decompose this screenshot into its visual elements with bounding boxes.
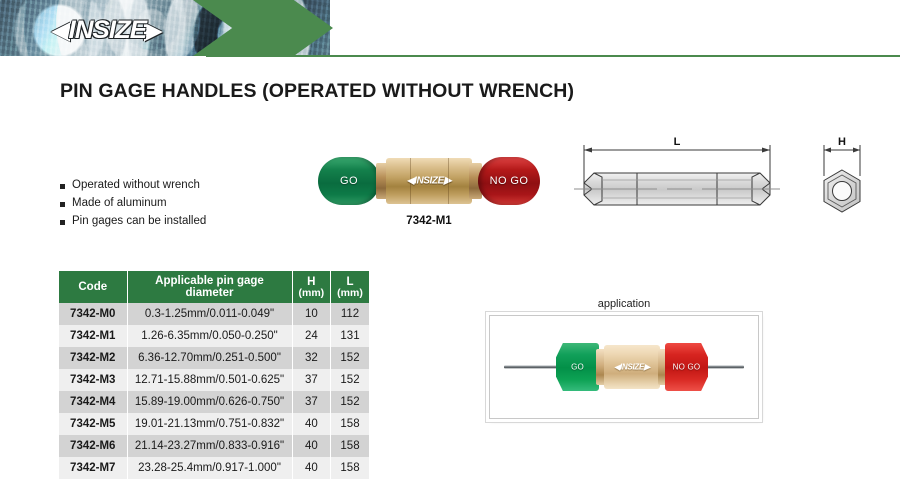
app-brass-body: ◀INSIZE▶ bbox=[604, 345, 660, 389]
cell-l: 152 bbox=[331, 347, 369, 369]
insize-logo: ◀ INSIZE ▶ bbox=[27, 17, 187, 43]
cell-code: 7342-M5 bbox=[59, 413, 127, 435]
feature-label: Made of aluminum bbox=[72, 196, 167, 211]
cell-h: 10 bbox=[292, 303, 331, 325]
logo-wordmark: INSIZE bbox=[68, 16, 146, 45]
logo-left-arrow-icon: ◀ bbox=[52, 19, 70, 42]
cell-h: 24 bbox=[292, 325, 331, 347]
nogo-label: NO GO bbox=[478, 175, 540, 187]
table-row[interactable]: 7342-M6 21.14-23.27mm/0.833-0.916" 40 15… bbox=[59, 435, 369, 457]
table-row[interactable]: 7342-M5 19.01-21.13mm/0.751-0.832" 40 15… bbox=[59, 413, 369, 435]
cell-h: 37 bbox=[292, 369, 331, 391]
cell-diameter: 15.89-19.00mm/0.626-0.750" bbox=[127, 391, 292, 413]
cell-diameter: 1.26-6.35mm/0.050-0.250" bbox=[127, 325, 292, 347]
cell-l: 152 bbox=[331, 369, 369, 391]
square-bullet-icon bbox=[60, 202, 65, 207]
height-dimension-label: H bbox=[838, 136, 846, 148]
brass-body: ◀INSIZE▶ bbox=[386, 158, 472, 204]
cell-l: 158 bbox=[331, 457, 369, 479]
column-header-h: H (mm) bbox=[292, 271, 331, 303]
cell-h: 40 bbox=[292, 457, 331, 479]
column-header-h-unit: (mm) bbox=[299, 288, 325, 299]
cell-code: 7342-M3 bbox=[59, 369, 127, 391]
technical-drawing: L bbox=[572, 128, 892, 224]
table-row[interactable]: 7342-M1 1.26-6.35mm/0.050-0.250" 24 131 bbox=[59, 325, 369, 347]
column-header-l-unit: (mm) bbox=[337, 288, 363, 299]
cell-code: 7342-M4 bbox=[59, 391, 127, 413]
cell-code: 7342-M6 bbox=[59, 435, 127, 457]
table-row[interactable]: 7342-M0 0.3-1.25mm/0.011-0.049" 10 112 bbox=[59, 303, 369, 325]
go-label: GO bbox=[318, 175, 380, 187]
body-brand-label: ◀INSIZE▶ bbox=[407, 176, 451, 187]
square-bullet-icon bbox=[60, 220, 65, 225]
square-bullet-icon bbox=[60, 184, 65, 189]
cell-h: 40 bbox=[292, 435, 331, 457]
app-nogo-end-cap: NO GO bbox=[665, 343, 708, 391]
product-code-caption: 7342-M1 bbox=[318, 215, 540, 227]
pin-gage-handle-illustration: GO ◀INSIZE▶ NO GO bbox=[318, 152, 540, 210]
column-header-l-symbol: L bbox=[346, 276, 353, 288]
page-title: PIN GAGE HANDLES (OPERATED WITHOUT WRENC… bbox=[60, 80, 574, 103]
cell-l: 158 bbox=[331, 413, 369, 435]
cell-diameter: 0.3-1.25mm/0.011-0.049" bbox=[127, 303, 292, 325]
page-header: ◀ INSIZE ▶ bbox=[0, 0, 900, 62]
column-header-l: L (mm) bbox=[331, 271, 369, 303]
product-photo: GO ◀INSIZE▶ NO GO bbox=[318, 152, 540, 210]
logo-right-arrow-icon: ▶ bbox=[144, 19, 162, 42]
cell-code: 7342-M1 bbox=[59, 325, 127, 347]
column-header-code: Code bbox=[59, 271, 127, 303]
table-row[interactable]: 7342-M4 15.89-19.00mm/0.626-0.750" 37 15… bbox=[59, 391, 369, 413]
cell-diameter: 12.71-15.88mm/0.501-0.625" bbox=[127, 369, 292, 391]
catalog-page: ◀ INSIZE ▶ PIN GAGE HANDLES (OPERATED WI… bbox=[0, 0, 900, 488]
cell-l: 112 bbox=[331, 303, 369, 325]
table-body: 7342-M0 0.3-1.25mm/0.011-0.049" 10 112 7… bbox=[59, 303, 369, 479]
dimension-drawing-svg: L bbox=[572, 128, 892, 224]
cell-l: 131 bbox=[331, 325, 369, 347]
table-header-row: Code Applicable pin gage diameter H (mm)… bbox=[59, 271, 369, 303]
feature-label: Pin gages can be installed bbox=[72, 214, 206, 229]
cell-code: 7342-M2 bbox=[59, 347, 127, 369]
header-divider-rule bbox=[206, 55, 900, 57]
app-go-label: GO bbox=[556, 363, 599, 372]
cell-diameter: 6.36-12.70mm/0.251-0.500" bbox=[127, 347, 292, 369]
handle-end-view-hexagon bbox=[824, 170, 860, 212]
column-header-h-symbol: H bbox=[307, 276, 315, 288]
cell-diameter: 21.14-23.27mm/0.833-0.916" bbox=[127, 435, 292, 457]
cell-diameter: 19.01-21.13mm/0.751-0.832" bbox=[127, 413, 292, 435]
cell-l: 158 bbox=[331, 435, 369, 457]
application-caption: application bbox=[489, 298, 759, 310]
cell-l: 152 bbox=[331, 391, 369, 413]
list-item: Pin gages can be installed bbox=[60, 214, 206, 229]
application-handle-illustration: GO ◀INSIZE▶ NO GO bbox=[556, 335, 708, 399]
app-nogo-label: NO GO bbox=[665, 363, 708, 372]
application-photo-frame: GO ◀INSIZE▶ NO GO bbox=[489, 315, 759, 419]
go-end-cap: GO bbox=[318, 157, 380, 205]
feature-label: Operated without wrench bbox=[72, 178, 200, 193]
table-row[interactable]: 7342-M2 6.36-12.70mm/0.251-0.500" 32 152 bbox=[59, 347, 369, 369]
length-dimension-label: L bbox=[674, 136, 681, 148]
feature-list: Operated without wrench Made of aluminum… bbox=[60, 178, 206, 232]
table-row[interactable]: 7342-M3 12.71-15.88mm/0.501-0.625" 37 15… bbox=[59, 369, 369, 391]
app-body-brand-label: ◀INSIZE▶ bbox=[614, 363, 650, 372]
table-row[interactable]: 7342-M7 23.28-25.4mm/0.917-1.000" 40 158 bbox=[59, 457, 369, 479]
column-header-diameter: Applicable pin gage diameter bbox=[127, 271, 292, 303]
cell-code: 7342-M7 bbox=[59, 457, 127, 479]
application-photo: GO ◀INSIZE▶ NO GO bbox=[490, 316, 758, 418]
cell-code: 7342-M0 bbox=[59, 303, 127, 325]
cell-h: 40 bbox=[292, 413, 331, 435]
app-go-end-cap: GO bbox=[556, 343, 599, 391]
list-item: Made of aluminum bbox=[60, 196, 206, 211]
cell-h: 32 bbox=[292, 347, 331, 369]
nogo-end-cap: NO GO bbox=[478, 157, 540, 205]
cell-diameter: 23.28-25.4mm/0.917-1.000" bbox=[127, 457, 292, 479]
cell-h: 37 bbox=[292, 391, 331, 413]
list-item: Operated without wrench bbox=[60, 178, 206, 193]
specification-table: Code Applicable pin gage diameter H (mm)… bbox=[59, 271, 369, 479]
